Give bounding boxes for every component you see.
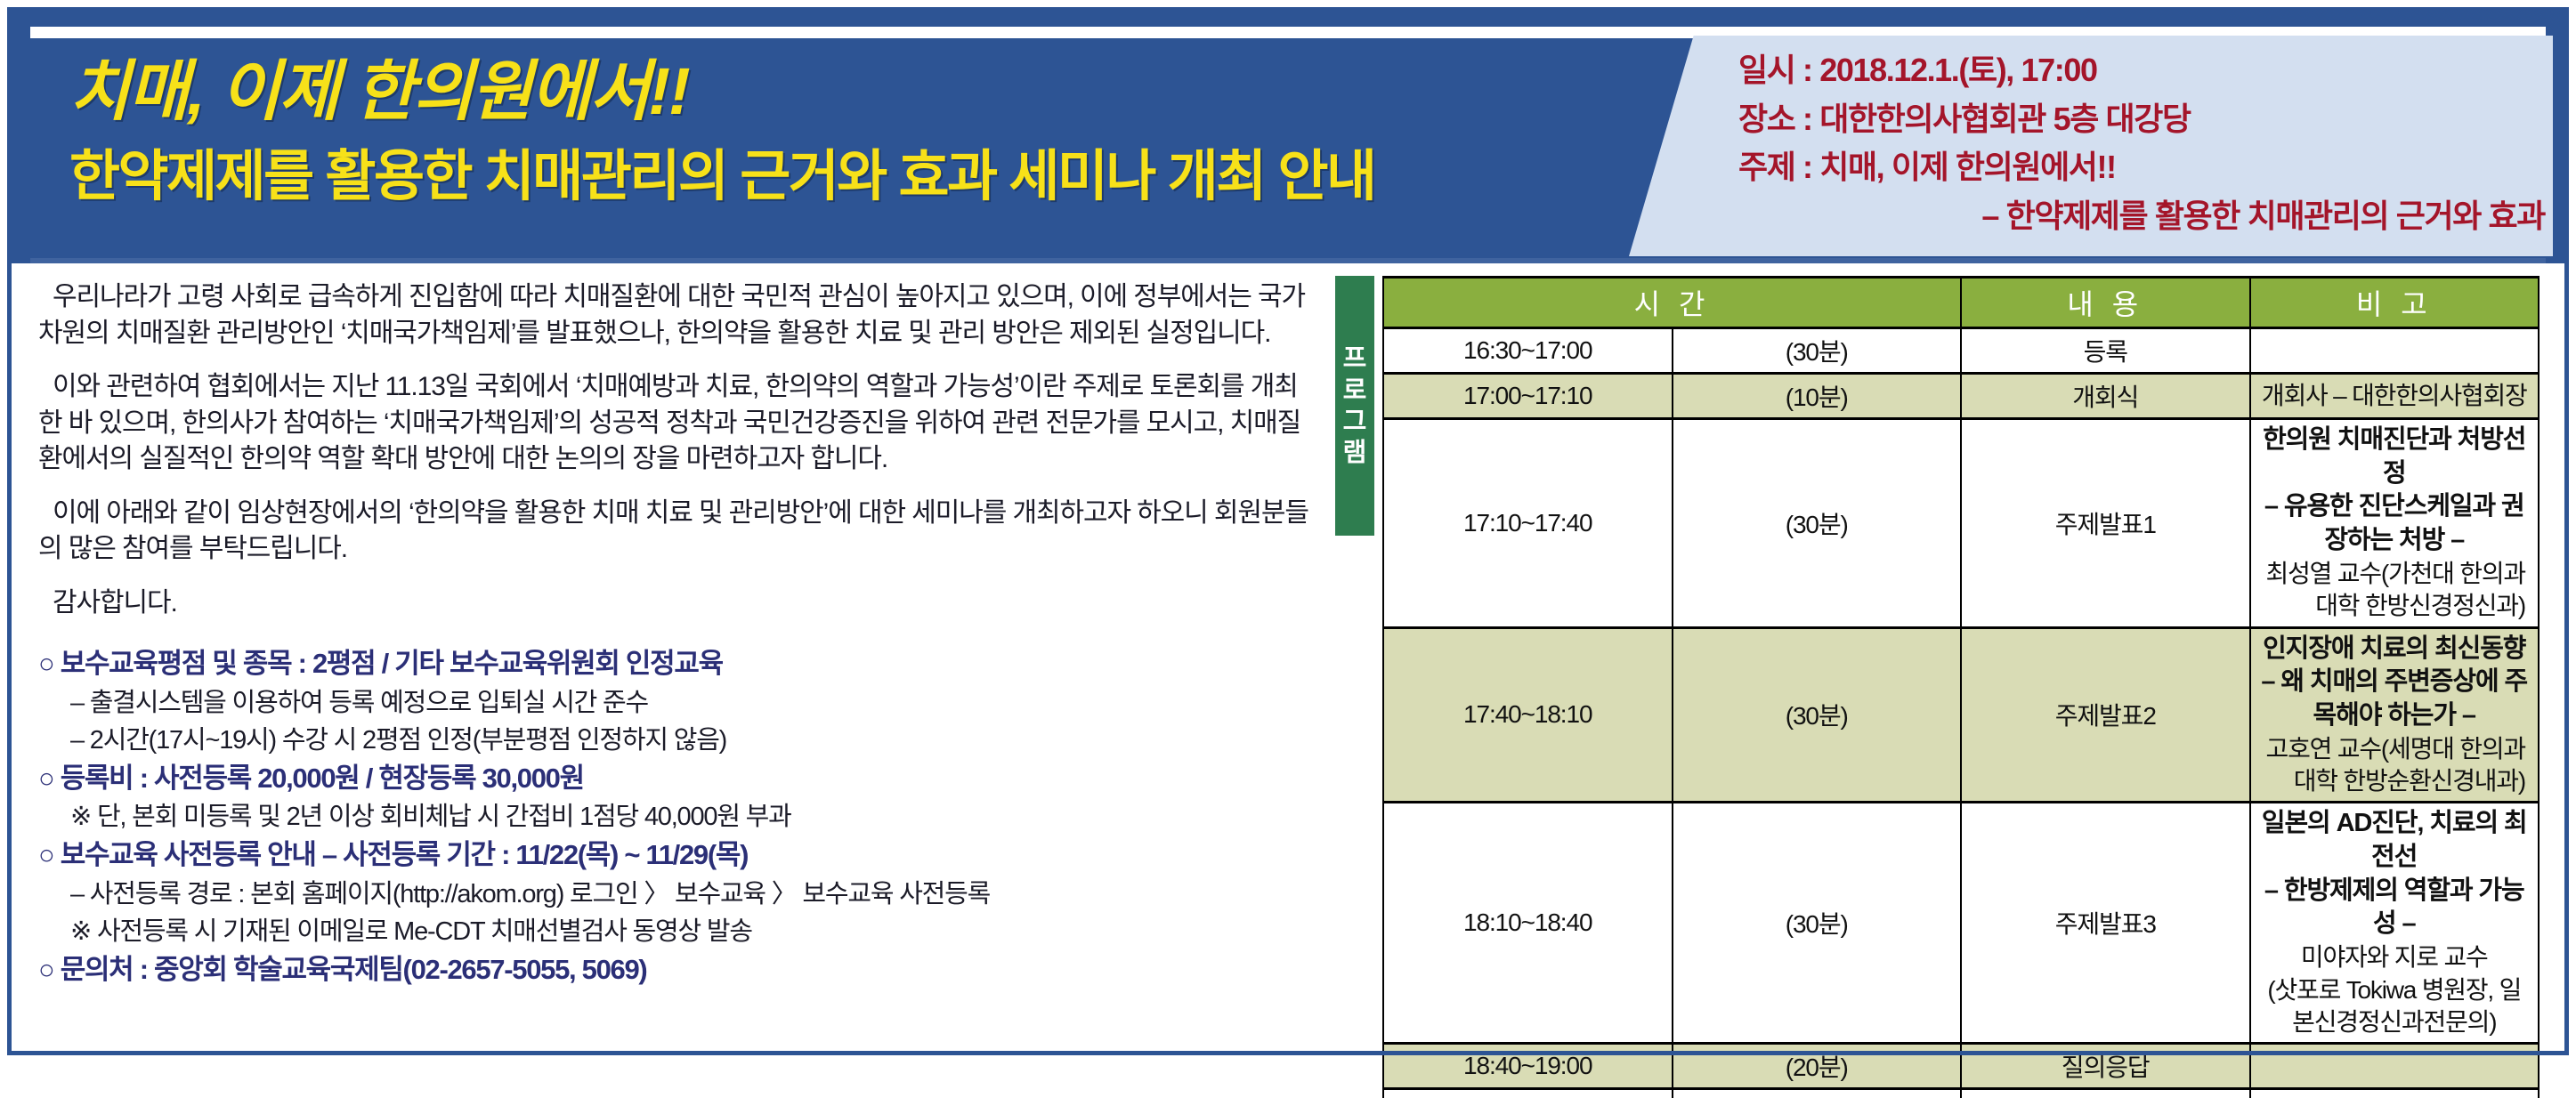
cell-time: 17:00~17:10 xyxy=(1383,374,1673,419)
program-row: 18:40~19:00(20분)질의응답 xyxy=(1383,1044,2539,1089)
notice-text-column: 우리나라가 고령 사회로 급속하게 진입함에 따라 치매질환에 대한 국민적 관… xyxy=(38,274,1320,1048)
cell-time: 16:30~17:00 xyxy=(1383,328,1673,374)
event-info-lines: 일시 : 2018.12.1.(토), 17:00 장소 : 대한한의사협회관 … xyxy=(1738,46,2557,241)
title-block: 치매, 이제 한의원에서!! 한약제제를 활용한 치매관리의 근거와 효과 세미… xyxy=(69,55,1600,208)
cell-duration: (20분) xyxy=(1673,1044,1962,1089)
cell-time: 19:00 xyxy=(1383,1089,1673,1098)
bullet-main-item: ○ 보수교육 사전등록 안내 – 사전등록 기간 : 11/22(목) ~ 11… xyxy=(38,836,1320,876)
column-header-time: 시 간 xyxy=(1383,278,1961,328)
cell-content: 폐회 xyxy=(1961,1089,2250,1098)
cell-remarks: 인지장애 치료의 최신동향– 왜 치매의 주변증상에 주목해야 하는가 –고호연… xyxy=(2250,627,2540,803)
program-tab-char: 프 xyxy=(1343,343,1367,375)
program-table: 시 간 내 용 비 고 16:30~17:00(30분)등록17:00~17:1… xyxy=(1382,276,2540,1098)
cell-remarks xyxy=(2250,328,2540,374)
bullet-sub-item: – 사전등록 경로 : 본회 홈페이지(http://akom.org) 로그인… xyxy=(38,876,1320,913)
bullet-sub-item: ※ 단, 본회 미등록 및 2년 이상 회비체납 시 간접비 1점당 40,00… xyxy=(38,798,1320,836)
program-row: 18:10~18:40(30분)주제발표3일본의 AD진단, 치료의 최전선– … xyxy=(1383,803,2539,1044)
cell-content: 주제발표1 xyxy=(1961,419,2250,628)
bullet-sub-item: – 2시간(17시~19시) 수강 시 2평점 인정(부분평점 인정하지 않음) xyxy=(38,722,1320,759)
column-header-remarks: 비 고 xyxy=(2250,278,2540,328)
program-row: 17:10~17:40(30분)주제발표1한의원 치매진단과 처방선정– 유용한… xyxy=(1383,419,2539,628)
event-info-subtopic: – 한약제제를 활용한 치매관리의 근거와 효과 xyxy=(1738,192,2557,241)
remark-line: 미야자와 지로 교수 xyxy=(2258,941,2531,973)
notice-bullet-list: ○ 보수교육평점 및 종목 : 2평점 / 기타 보수교육위원회 인정교육– 출… xyxy=(38,644,1320,990)
remark-line: 고호연 교수(세명대 한의과대학 한방순환신경내과) xyxy=(2258,733,2531,798)
cell-time: 18:40~19:00 xyxy=(1383,1044,1673,1089)
column-header-content: 내 용 xyxy=(1961,278,2250,328)
notice-paragraph: 이에 아래와 같이 임상현장에서의 ‘한의약을 활용한 치매 치료 및 관리방안… xyxy=(38,496,1320,568)
bullet-sub-item: – 출결시스템을 이용하여 등록 예정으로 입퇴실 시간 준수 xyxy=(38,684,1320,722)
event-info-date: 일시 : 2018.12.1.(토), 17:00 xyxy=(1738,46,2557,95)
remark-line: 개회사 – 대한한의사협회장 xyxy=(2258,380,2531,412)
bullet-main-item: ○ 문의처 : 중앙회 학술교육국제팀(02-2657-5055, 5069) xyxy=(38,950,1320,990)
cell-content: 질의응답 xyxy=(1961,1044,2250,1089)
cell-content: 주제발표2 xyxy=(1961,627,2250,803)
program-row: 17:40~18:10(30분)주제발표2인지장애 치료의 최신동향– 왜 치매… xyxy=(1383,627,2539,803)
cell-time: 17:10~17:40 xyxy=(1383,419,1673,628)
cell-duration: (30분) xyxy=(1673,419,1962,628)
cell-time: 17:40~18:10 xyxy=(1383,627,1673,803)
remark-line: 한의원 치매진단과 처방선정 xyxy=(2258,424,2531,490)
cell-duration: (30분) xyxy=(1673,328,1962,374)
bullet-main-item: ○ 등록비 : 사전등록 20,000원 / 현장등록 30,000원 xyxy=(38,759,1320,799)
program-row: 17:00~17:10(10분)개회식개회사 – 대한한의사협회장 xyxy=(1383,374,2539,419)
cell-duration: (30분) xyxy=(1673,803,1962,1044)
poster-title-main: 치매, 이제 한의원에서!! xyxy=(69,55,1600,129)
cell-time: 18:10~18:40 xyxy=(1383,803,1673,1044)
poster-header: 치매, 이제 한의원에서!! 한약제제를 활용한 치매관리의 근거와 효과 세미… xyxy=(7,7,2569,263)
cell-remarks: 개회사 – 대한한의사협회장 xyxy=(2250,374,2540,419)
remark-line: – 한방제제의 역할과 가능성 – xyxy=(2258,875,2531,941)
cell-content: 주제발표3 xyxy=(1961,803,2250,1044)
cell-remarks: 일본의 AD진단, 치료의 최전선– 한방제제의 역할과 가능성 –미야자와 지… xyxy=(2250,803,2540,1044)
cell-remarks xyxy=(2250,1089,2540,1098)
event-info-topic: 주제 : 치매, 이제 한의원에서!! xyxy=(1738,143,2557,192)
notice-paragraph: 감사합니다. xyxy=(38,585,1320,622)
poster-page: 치매, 이제 한의원에서!! 한약제제를 활용한 치매관리의 근거와 효과 세미… xyxy=(0,0,2576,1098)
program-tab-char: 그 xyxy=(1343,407,1367,438)
poster-title-sub: 한약제제를 활용한 치매관리의 근거와 효과 세미나 개최 안내 xyxy=(69,145,1600,208)
program-tab-char: 로 xyxy=(1343,375,1367,407)
remark-line: – 왜 치매의 주변증상에 주목해야 하는가 – xyxy=(2258,666,2531,732)
poster-body: 우리나라가 고령 사회로 급속하게 진입함에 따라 치매질환에 대한 국민적 관… xyxy=(12,263,2564,1055)
bullet-sub-item: ※ 사전등록 시 기재된 이메일로 Me-CDT 치매선별검사 동영상 발송 xyxy=(38,913,1320,950)
cell-duration xyxy=(1673,1089,1962,1098)
program-column: 프로그램 시 간 내 용 비 고 16:30~17:00(30분)등록17:00… xyxy=(1335,276,2555,1050)
program-row: 16:30~17:00(30분)등록 xyxy=(1383,328,2539,374)
program-row: 19:00폐회 xyxy=(1383,1089,2539,1098)
bullet-main-item: ○ 보수교육평점 및 종목 : 2평점 / 기타 보수교육위원회 인정교육 xyxy=(38,644,1320,684)
remark-line: 인지장애 치료의 최신동향 xyxy=(2258,633,2531,666)
remark-line: – 유용한 진단스케일과 권장하는 처방 – xyxy=(2258,490,2531,557)
cell-duration: (10분) xyxy=(1673,374,1962,419)
program-table-head: 시 간 내 용 비 고 xyxy=(1383,278,2539,328)
cell-duration: (30분) xyxy=(1673,627,1962,803)
cell-content: 등록 xyxy=(1961,328,2250,374)
remark-line: 일본의 AD진단, 치료의 최전선 xyxy=(2258,807,2531,874)
notice-paragraph: 우리나라가 고령 사회로 급속하게 진입함에 따라 치매질환에 대한 국민적 관… xyxy=(38,279,1320,351)
event-info-place: 장소 : 대한한의사협회관 5층 대강당 xyxy=(1738,95,2557,144)
program-header-row: 시 간 내 용 비 고 xyxy=(1383,278,2539,328)
cell-remarks xyxy=(2250,1044,2540,1089)
remark-line: 최성열 교수(가천대 한의과대학 한방신경정신과) xyxy=(2258,558,2531,623)
cell-content: 개회식 xyxy=(1961,374,2250,419)
cell-remarks: 한의원 치매진단과 처방선정– 유용한 진단스케일과 권장하는 처방 –최성열 … xyxy=(2250,419,2540,628)
notice-paragraphs: 우리나라가 고령 사회로 급속하게 진입함에 따라 치매질환에 대한 국민적 관… xyxy=(38,279,1320,621)
notice-paragraph: 이와 관련하여 협회에서는 지난 11.13일 국회에서 ‘치매예방과 치료, … xyxy=(38,369,1320,478)
program-tab-char: 램 xyxy=(1343,438,1367,469)
program-table-body: 16:30~17:00(30분)등록17:00~17:10(10분)개회식개회사… xyxy=(1383,328,2539,1098)
program-side-tab: 프로그램 xyxy=(1335,276,1374,536)
remark-line: (삿포로 Tokiwa 병원장, 일본신경정신과전문의) xyxy=(2258,974,2531,1039)
